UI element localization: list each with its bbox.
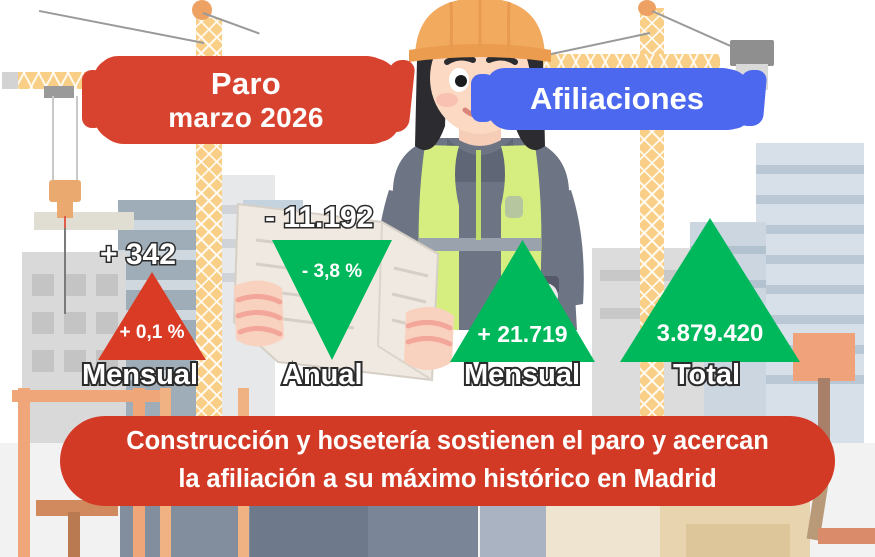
paro-banner-line1: Paro: [168, 67, 324, 102]
paro-anual-value: - 11.192: [265, 201, 373, 235]
building-left-slab: [34, 212, 134, 230]
paro-anual-percent: - 3,8 %: [302, 261, 362, 283]
afiliacion-mensual-value: + 21.719: [477, 321, 567, 348]
scaffold-pole-left: [18, 388, 30, 557]
scaffold-table-leg: [68, 512, 80, 557]
paro-banner: Paro marzo 2026: [96, 56, 396, 144]
headline-line-1: Construcción y hosetería sostienen el pa…: [126, 423, 768, 461]
afiliacion-mensual-label: Mensual: [464, 359, 580, 392]
afiliacion-mensual-triangle-up-icon: + 21.719: [450, 240, 595, 362]
afiliacion-total-label: Total: [673, 359, 740, 392]
signboard-right: [793, 333, 855, 381]
paro-anual-label: Anual: [282, 359, 363, 392]
ground-pallet-right: [546, 498, 666, 557]
afiliacion-total-triangle-up-icon: 3.879.420: [620, 218, 800, 362]
paro-anual-triangle-down-icon: - 3,8 %: [272, 240, 392, 360]
afiliaciones-banner: Afiliaciones: [486, 68, 748, 130]
paro-mensual-triangle-up-icon: + 0,1 %: [98, 272, 206, 360]
paro-mensual-label: Mensual: [82, 359, 198, 392]
headline-line-2: la afiliación a su máximo histórico en M…: [178, 461, 716, 499]
paro-mensual-percent: + 0,1 %: [120, 322, 185, 344]
afiliacion-total-value: 3.879.420: [657, 320, 764, 348]
headline-banner: Construcción y hosetería sostienen el pa…: [60, 416, 835, 506]
ground-crate-right-2: [686, 524, 790, 557]
infographic-canvas: Paro marzo 2026 Afiliaciones + 342 + 0,1…: [0, 0, 875, 557]
afiliaciones-banner-label: Afiliaciones: [530, 82, 704, 117]
paro-mensual-value: + 342: [100, 238, 176, 272]
paro-banner-line2: marzo 2026: [168, 102, 324, 133]
ground-plank-base: [818, 528, 875, 544]
